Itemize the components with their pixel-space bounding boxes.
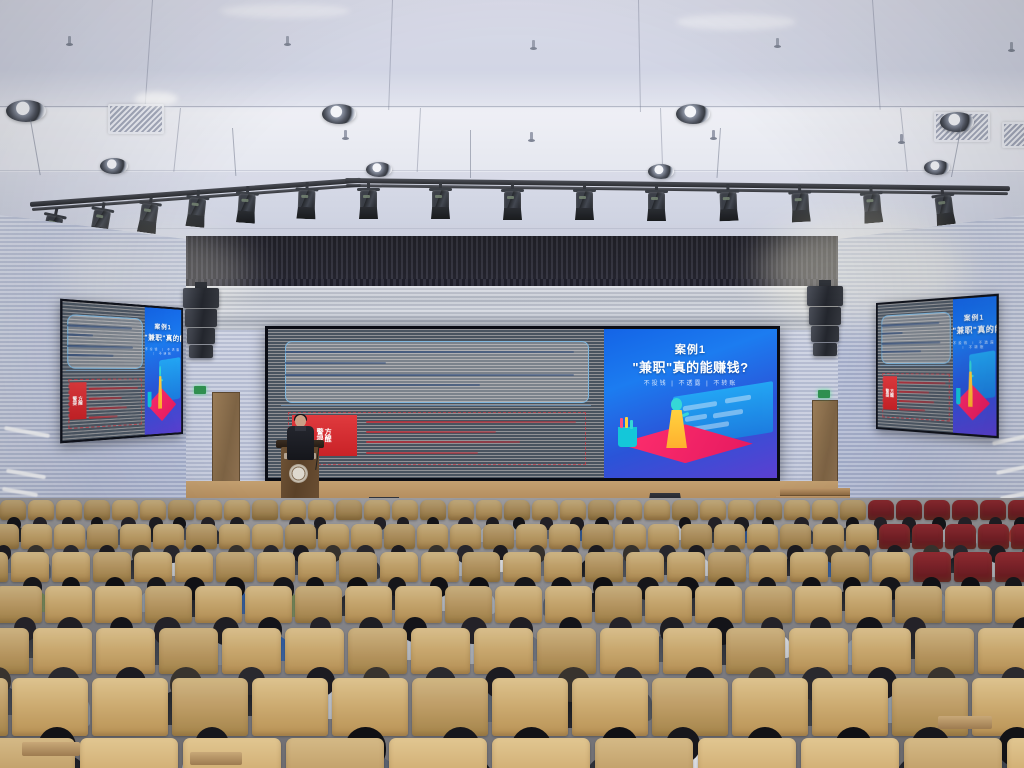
auditorium-seat	[286, 738, 384, 768]
line-array-speaker-right	[807, 286, 843, 358]
illustration-pen	[625, 417, 628, 428]
audience-seating	[0, 498, 1024, 768]
auditorium-seat	[652, 678, 728, 736]
slide-headline: "兼职"真的能赚钱?	[144, 333, 181, 345]
side-door-left[interactable]	[212, 392, 240, 482]
slide-title-panel: 案例1 "兼职"真的能赚钱? 不投钱 | 不透露 | 不转账	[952, 296, 996, 436]
sprinkler	[286, 36, 289, 45]
stage-spotlight	[186, 193, 206, 229]
stage-spotlight	[504, 187, 521, 221]
slide-case-label: 案例1	[952, 311, 996, 323]
stage-spotlight	[297, 186, 315, 221]
slide-case-label: 案例1	[604, 341, 777, 357]
lighting-truss	[30, 168, 998, 208]
sprinkler	[530, 132, 533, 141]
slide-text-panel: 警方 提醒	[62, 301, 144, 441]
auditorium-seat	[492, 738, 590, 768]
warning-text-line	[366, 431, 496, 433]
auditorium-seat	[80, 738, 178, 768]
warning-badge-line2: 提醒	[73, 401, 84, 406]
illustration-pen	[620, 418, 623, 428]
auditorium-seat	[549, 524, 580, 549]
slide-subline: 不投钱 | 不透露 | 不转账	[952, 339, 996, 349]
stage-spotlight	[360, 186, 377, 220]
sprinkler	[532, 40, 535, 49]
folding-desk	[22, 742, 80, 756]
stage-spotlight	[719, 188, 737, 223]
auditorium-photo: 警方 提醒 案例1 "兼职"真的能赚钱? 不投钱 | 不透露 | 不转账	[0, 0, 1024, 768]
warning-text-line	[366, 441, 520, 443]
auditorium-seat	[336, 500, 362, 520]
exit-sign-right	[818, 390, 830, 398]
illustration-pen-cup	[147, 391, 151, 408]
illustration-pen	[630, 420, 633, 429]
warning-text-line	[366, 421, 576, 423]
auditorium-seat	[195, 586, 242, 623]
main-led-screen[interactable]: 警方 提醒 案例1 "兼职"真的能赚钱? 不投钱 | 不透露 | 不转账	[265, 326, 780, 481]
auditorium-seat	[252, 678, 328, 736]
ceiling-speaker	[940, 112, 974, 132]
auditorium-seat	[92, 678, 168, 736]
stage-spotlight	[648, 188, 665, 222]
stage-spotlight	[934, 191, 955, 227]
slide-text-line	[285, 362, 386, 364]
ceiling-speaker	[322, 104, 356, 124]
slide-title-panel: 案例1 "兼职"真的能赚钱? 不投钱 | 不透露 | 不转账	[604, 329, 777, 478]
slide-headline: "兼职"真的能赚钱?	[604, 357, 777, 376]
sprinkler	[344, 130, 347, 139]
folding-desk	[190, 752, 242, 765]
auditorium-seat	[644, 500, 670, 520]
auditorium-seat	[595, 738, 693, 768]
stage-spotlight	[432, 186, 449, 220]
ceiling-speaker	[6, 100, 46, 122]
slide-textbox	[881, 311, 950, 364]
exit-sign-left	[194, 386, 206, 394]
metal-wall-band	[186, 286, 838, 330]
sprinkler	[712, 130, 715, 139]
university-crest	[289, 464, 308, 483]
presenter	[286, 415, 314, 461]
auditorium-seat	[572, 678, 648, 736]
left-side-display[interactable]: 警方 提醒 案例1 "兼职"真的能赚钱? 不投钱 | 不透露 | 不转账	[60, 299, 183, 444]
ceiling-speaker	[676, 104, 710, 124]
slide-textbox	[285, 341, 589, 403]
stage-spotlight	[791, 189, 810, 224]
auditorium-seat	[663, 628, 722, 674]
sprinkler	[900, 134, 903, 143]
auditorium-seat	[813, 524, 844, 549]
police-warning-badge: 警方 提醒	[70, 382, 87, 420]
auditorium-seat	[1011, 524, 1024, 549]
police-warning-badge: 警方 提醒	[883, 376, 897, 410]
slide-text-line	[285, 374, 574, 376]
slide-title-panel: 案例1 "兼职"真的能赚钱? 不投钱 | 不透露 | 不转账	[144, 307, 181, 435]
slide-text-line	[285, 384, 480, 386]
auditorium-seat	[698, 738, 796, 768]
warning-text-line	[366, 452, 478, 454]
slide-textbox	[67, 314, 143, 369]
illustration-person	[968, 361, 973, 407]
auditorium-seat	[0, 628, 29, 674]
auditorium-seat	[257, 552, 295, 582]
auditorium-seat	[801, 738, 899, 768]
warning-badge-line2: 提醒	[886, 393, 895, 397]
auditorium-seat	[516, 524, 547, 549]
police-warning-box: 警方 提醒	[68, 379, 142, 429]
illustration-person	[158, 366, 162, 409]
illustration-person	[666, 398, 687, 449]
slide-text-panel: 警方 提醒	[878, 299, 953, 432]
auditorium-seat	[0, 678, 8, 736]
stage-spotlight	[237, 189, 256, 224]
auditorium-seat	[904, 738, 1002, 768]
stage-valance-curtain	[186, 236, 838, 288]
sprinkler	[1010, 42, 1013, 51]
line-array-speaker-left	[183, 288, 219, 360]
slide-subline: 不投钱 | 不透露 | 不转账	[144, 347, 181, 356]
police-warning-box: 警方 提醒	[288, 412, 586, 465]
sprinkler	[776, 38, 779, 47]
auditorium-seat	[726, 628, 785, 674]
right-side-display[interactable]: 警方 提醒 案例1 "兼职"真的能赚钱? 不投钱 | 不透露 | 不转账	[876, 294, 999, 439]
police-warning-box: 警方 提醒	[882, 373, 950, 421]
side-door-right[interactable]	[812, 400, 838, 492]
ceiling-vent	[108, 104, 164, 134]
slide-case-label: 案例1	[144, 321, 181, 332]
illustration-pen-cup	[618, 427, 637, 446]
slide-headline: "兼职"真的能赚钱?	[952, 324, 996, 337]
auditorium-seat	[0, 552, 8, 582]
sprinkler	[68, 36, 71, 45]
illustration-pen-cup	[956, 387, 961, 405]
stage-spotlight	[863, 189, 883, 224]
auditorium-seat	[412, 678, 488, 736]
warning-badge-line1: 警方	[317, 429, 333, 436]
folding-desk	[938, 716, 992, 729]
auditorium-seat	[537, 628, 596, 674]
auditorium-seat	[1007, 738, 1024, 768]
stage-spotlight	[576, 187, 593, 221]
auditorium-seat	[945, 586, 992, 623]
auditorium-seat	[389, 738, 487, 768]
auditorium-seat	[252, 500, 278, 520]
ceiling-vent	[1002, 122, 1024, 148]
